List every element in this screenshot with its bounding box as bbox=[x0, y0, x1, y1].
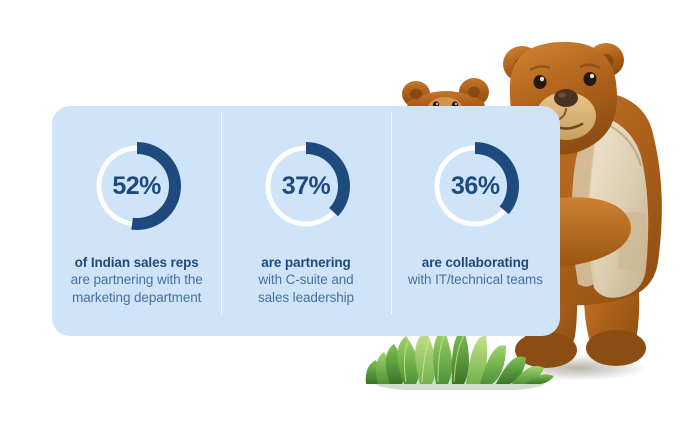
stat-caption-2: are partnering with C-suite and sales le… bbox=[258, 254, 354, 306]
donut-value-2: 37% bbox=[260, 140, 352, 232]
donut-chart-36: 36% bbox=[429, 140, 521, 232]
stats-card: 52% of Indian sales reps are partnering … bbox=[52, 106, 560, 336]
stat-panel-1: 52% of Indian sales reps are partnering … bbox=[52, 106, 221, 336]
stat-caption-1: of Indian sales reps are partnering with… bbox=[71, 254, 203, 306]
infographic-canvas: 52% of Indian sales reps are partnering … bbox=[0, 0, 700, 441]
caption-strong-1: of Indian sales reps bbox=[71, 254, 203, 271]
caption-line-1a: are partnering with the bbox=[71, 271, 203, 288]
caption-strong-3: are collaborating bbox=[408, 254, 543, 271]
stat-caption-3: are collaborating with IT/technical team… bbox=[408, 254, 543, 289]
donut-value-3: 36% bbox=[429, 140, 521, 232]
caption-line-1b: marketing department bbox=[71, 289, 203, 306]
donut-chart-37: 37% bbox=[260, 140, 352, 232]
donut-value-1: 52% bbox=[91, 140, 183, 232]
caption-line-2b: sales leadership bbox=[258, 289, 354, 306]
caption-line-3a: with IT/technical teams bbox=[408, 271, 543, 288]
donut-chart-52: 52% bbox=[91, 140, 183, 232]
stat-panel-2: 37% are partnering with C-suite and sale… bbox=[221, 106, 390, 336]
stat-panel-3: 36% are collaborating with IT/technical … bbox=[391, 106, 560, 336]
caption-strong-2: are partnering bbox=[258, 254, 354, 271]
caption-line-2a: with C-suite and bbox=[258, 271, 354, 288]
